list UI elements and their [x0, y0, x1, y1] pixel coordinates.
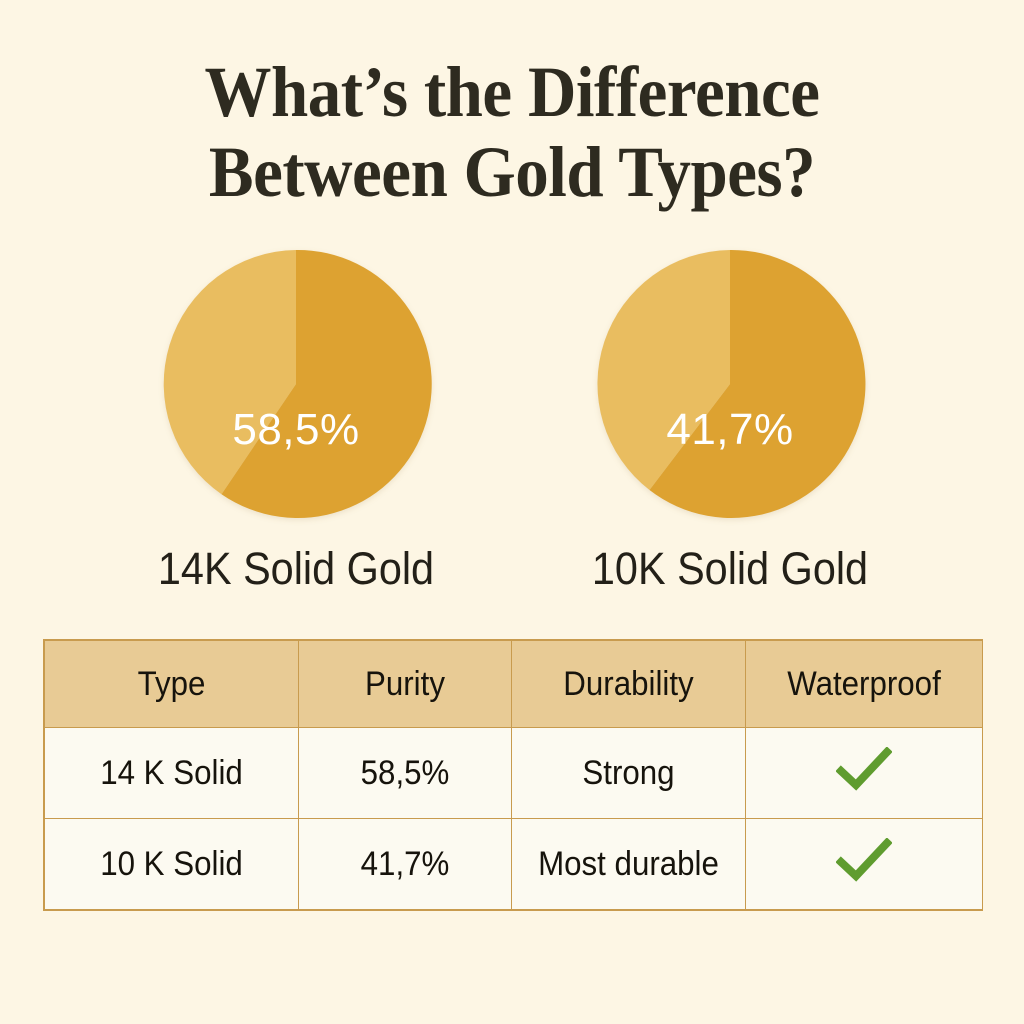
- page-title-line-2: Between Gold Types?: [36, 132, 988, 212]
- pie-chart-10k: 41,7%: [580, 248, 880, 538]
- cell-purity-10k: 41,7%: [299, 819, 512, 910]
- cell-durability-14k: Strong: [512, 728, 746, 819]
- table-row: 10 K Solid 41,7% Most durable: [45, 819, 983, 910]
- table-header-durability: Durability: [512, 641, 746, 728]
- cell-purity-14k: 58,5%: [299, 728, 512, 819]
- page-title-line-1: What’s the Difference: [36, 52, 988, 132]
- pie-chart-14k: 58,5%: [146, 248, 446, 538]
- table-header-waterproof: Waterproof: [746, 641, 983, 728]
- page-title: What’s the Difference Between Gold Types…: [0, 52, 1024, 212]
- pie-chart-10k-graphic: 41,7%: [594, 248, 866, 520]
- cell-waterproof-10k: [746, 819, 983, 910]
- pie-chart-14k-graphic: 58,5%: [160, 248, 432, 520]
- check-icon: [836, 838, 892, 882]
- table-row: 14 K Solid 58,5% Strong: [45, 728, 983, 819]
- cell-type-10k: 10 K Solid: [45, 819, 299, 910]
- pie-chart-row: 58,5% 41,7%: [0, 248, 1024, 538]
- table-header-row: Type Purity Durability Waterproof: [45, 641, 983, 728]
- comparison-table: Type Purity Durability Waterproof 14 K S…: [43, 639, 983, 911]
- cell-type-14k: 14 K Solid: [45, 728, 299, 819]
- pie-captions: 14K Solid Gold 10K Solid Gold: [0, 543, 1024, 599]
- cell-durability-10k: Most durable: [512, 819, 746, 910]
- table-header-purity: Purity: [299, 641, 512, 728]
- check-icon: [836, 747, 892, 791]
- infographic-page: What’s the Difference Between Gold Types…: [0, 0, 1024, 1024]
- table-header-type: Type: [45, 641, 299, 728]
- pie-caption-10k: 10K Solid Gold: [546, 543, 914, 595]
- pie-caption-14k: 14K Solid Gold: [112, 543, 480, 595]
- pie-14k-svg: [160, 248, 432, 520]
- pie-10k-svg: [594, 248, 866, 520]
- cell-waterproof-14k: [746, 728, 983, 819]
